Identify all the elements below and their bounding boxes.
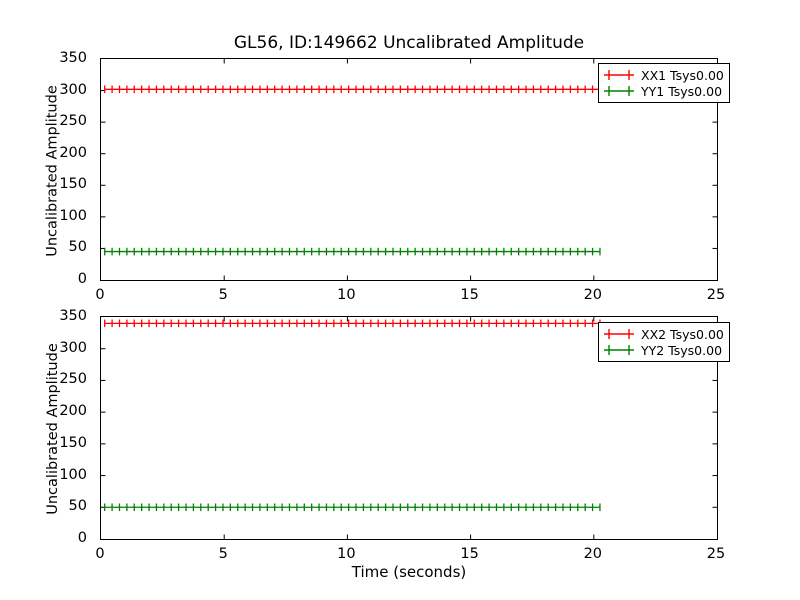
series-yy2: [105, 503, 600, 511]
y-tick-50: 50: [69, 498, 92, 514]
x-tick-0: 0: [95, 546, 104, 562]
legend-item-xx2: XX2 Tsys0.00: [603, 326, 724, 342]
x-axis-ticklabels-top: 0510152025: [100, 284, 718, 306]
x-axis-ticklabels-bottom: 0510152025: [100, 543, 718, 565]
y-tick-350: 350: [59, 308, 92, 324]
y-tick-100: 100: [59, 467, 92, 483]
series-xx2: [105, 320, 600, 328]
x-tick-5: 5: [219, 546, 228, 562]
x-tick-15: 15: [460, 546, 478, 562]
y-tick-350: 350: [59, 50, 92, 66]
x-tick-15: 15: [460, 287, 478, 303]
legend-item-yy2: YY2 Tsys0.00: [603, 342, 724, 358]
legend-top: XX1 Tsys0.00 YY1 Tsys0.00: [598, 63, 730, 103]
y-tick-0: 0: [78, 530, 92, 546]
y-tick-150: 150: [59, 176, 92, 192]
y-axis-label-bottom: Uncalibrated Amplitude: [44, 317, 62, 541]
legend-label-xx2: XX2 Tsys0.00: [641, 327, 724, 342]
x-tick-20: 20: [584, 287, 602, 303]
y-tick-200: 200: [59, 403, 92, 419]
figure-title: GL56, ID:149662 Uncalibrated Amplitude: [100, 33, 718, 53]
x-tick-25: 25: [707, 546, 725, 562]
y-tick-200: 200: [59, 145, 92, 161]
legend-label-xx1: XX1 Tsys0.00: [641, 68, 724, 83]
legend-swatch-yy1: [603, 84, 635, 98]
y-tick-300: 300: [59, 340, 92, 356]
x-tick-20: 20: [584, 546, 602, 562]
y-tick-250: 250: [59, 113, 92, 129]
y-tick-100: 100: [59, 208, 92, 224]
legend-bottom: XX2 Tsys0.00 YY2 Tsys0.00: [598, 322, 730, 362]
y-tick-150: 150: [59, 435, 92, 451]
legend-label-yy2: YY2 Tsys0.00: [641, 343, 722, 358]
legend-swatch-xx1: [603, 68, 635, 82]
y-tick-250: 250: [59, 371, 92, 387]
y-axis-label-top: Uncalibrated Amplitude: [44, 60, 62, 283]
legend-label-yy1: YY1 Tsys0.00: [641, 84, 722, 99]
x-tick-5: 5: [219, 287, 228, 303]
series-xx1: [105, 86, 600, 94]
y-tick-50: 50: [69, 239, 92, 255]
legend-swatch-yy2: [603, 343, 635, 357]
x-tick-10: 10: [337, 546, 355, 562]
y-tick-300: 300: [59, 82, 92, 98]
x-tick-0: 0: [95, 287, 104, 303]
y-tick-0: 0: [78, 271, 92, 287]
legend-item-xx1: XX1 Tsys0.00: [603, 67, 724, 83]
legend-item-yy1: YY1 Tsys0.00: [603, 83, 724, 99]
x-tick-25: 25: [707, 287, 725, 303]
x-tick-10: 10: [337, 287, 355, 303]
matplotlib-figure: GL56, ID:149662 Uncalibrated Amplitude 0…: [0, 0, 800, 600]
legend-swatch-xx2: [603, 327, 635, 341]
x-axis-label-bottom: Time (seconds): [100, 563, 718, 581]
series-yy1: [105, 248, 600, 256]
